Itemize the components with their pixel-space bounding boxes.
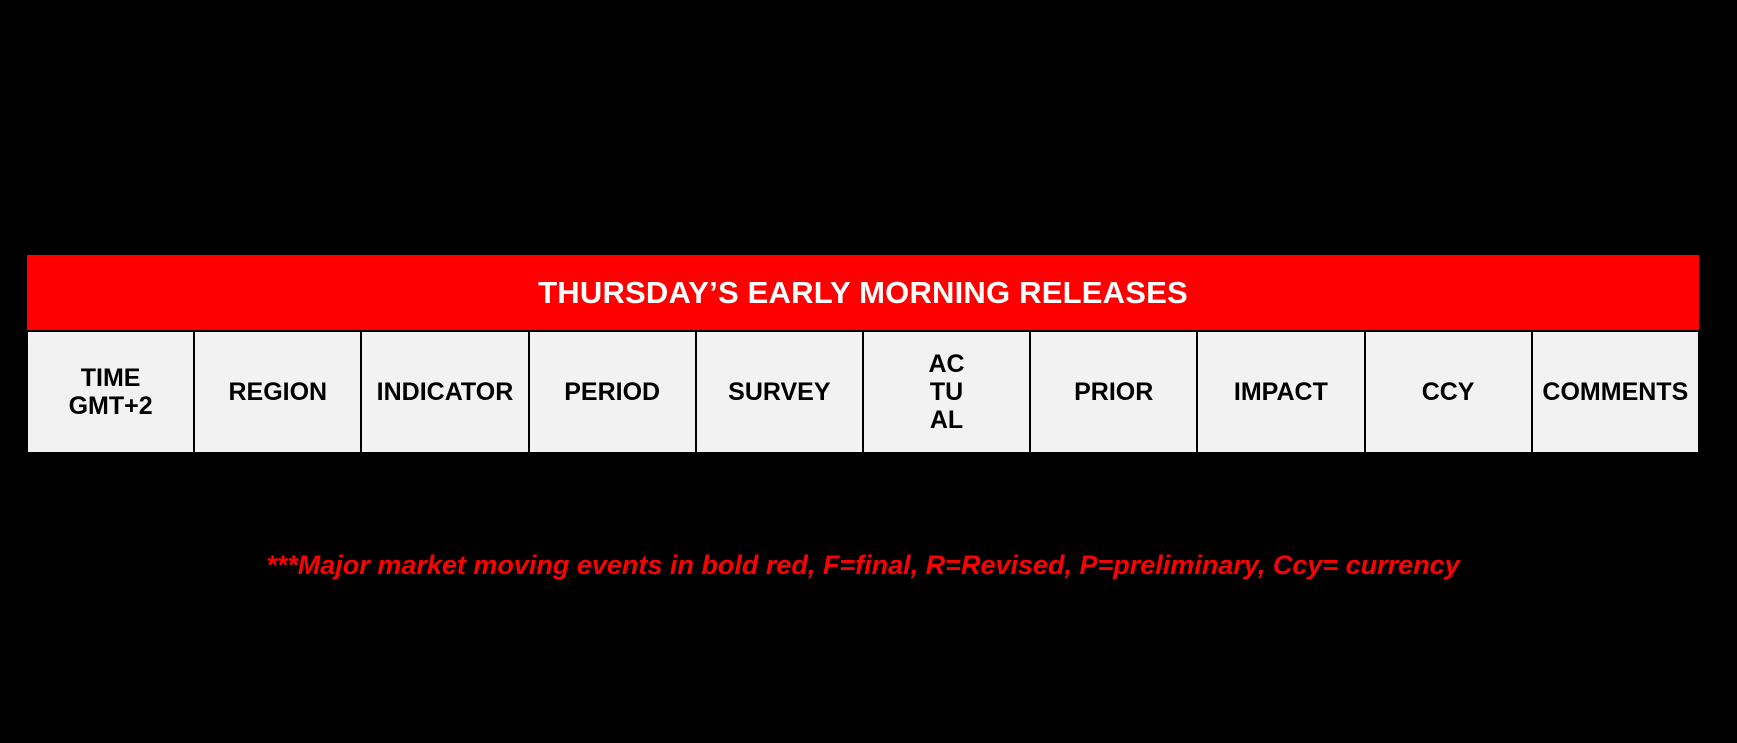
column-header-ccy[interactable]: CCY <box>1365 331 1532 453</box>
column-header-impact[interactable]: IMPACT <box>1197 331 1364 453</box>
column-header-region[interactable]: REGION <box>194 331 361 453</box>
legend-footnote: ***Major market moving events in bold re… <box>26 550 1700 581</box>
column-header-prior[interactable]: PRIOR <box>1030 331 1197 453</box>
column-header-actual-line2: TU <box>930 378 963 406</box>
column-header-time-line2: GMT+2 <box>69 392 153 420</box>
column-header-actual-line1: AC <box>928 350 964 378</box>
column-header-survey[interactable]: SURVEY <box>696 331 863 453</box>
slide-canvas: THURSDAY’S EARLY MORNING RELEASES TIME G… <box>0 0 1737 743</box>
table-title: THURSDAY’S EARLY MORNING RELEASES <box>27 255 1699 331</box>
table-title-row: THURSDAY’S EARLY MORNING RELEASES <box>27 255 1699 331</box>
column-header-time-line1: TIME <box>81 364 141 392</box>
table-header-row: TIME GMT+2 REGION INDICATOR PERIOD SURVE… <box>27 331 1699 453</box>
column-header-comments[interactable]: COMMENTS <box>1532 331 1699 453</box>
column-header-actual[interactable]: AC TU AL <box>863 331 1030 453</box>
economic-calendar-table: THURSDAY’S EARLY MORNING RELEASES TIME G… <box>26 255 1700 454</box>
column-header-indicator[interactable]: INDICATOR <box>361 331 528 453</box>
column-header-period[interactable]: PERIOD <box>529 331 696 453</box>
column-header-time[interactable]: TIME GMT+2 <box>27 331 194 453</box>
column-header-actual-line3: AL <box>930 406 963 434</box>
